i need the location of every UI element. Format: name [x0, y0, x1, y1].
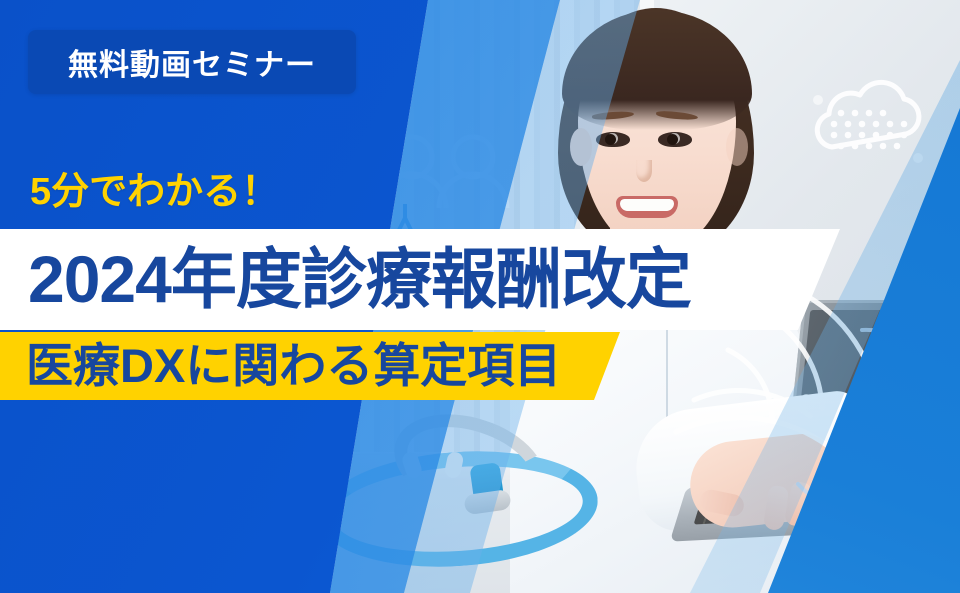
seminar-badge-label: 無料動画セミナー — [68, 40, 316, 84]
mouth — [616, 196, 678, 218]
seminar-banner: 無料動画セミナー 5分でわかる！ 2024年度診療報酬改定 医療DXに関わる算定… — [0, 0, 960, 593]
headline-text: 2024年度診療報酬改定 — [28, 243, 691, 315]
teeth — [620, 199, 674, 211]
kicker-text: 5分でわかる！ — [30, 160, 279, 215]
eye-right — [658, 132, 692, 147]
subheadline-text: 医療DXに関わる算定項目 — [26, 339, 561, 393]
seminar-badge: 無料動画セミナー — [28, 30, 356, 94]
nose — [636, 160, 652, 182]
ear-right — [726, 128, 748, 166]
